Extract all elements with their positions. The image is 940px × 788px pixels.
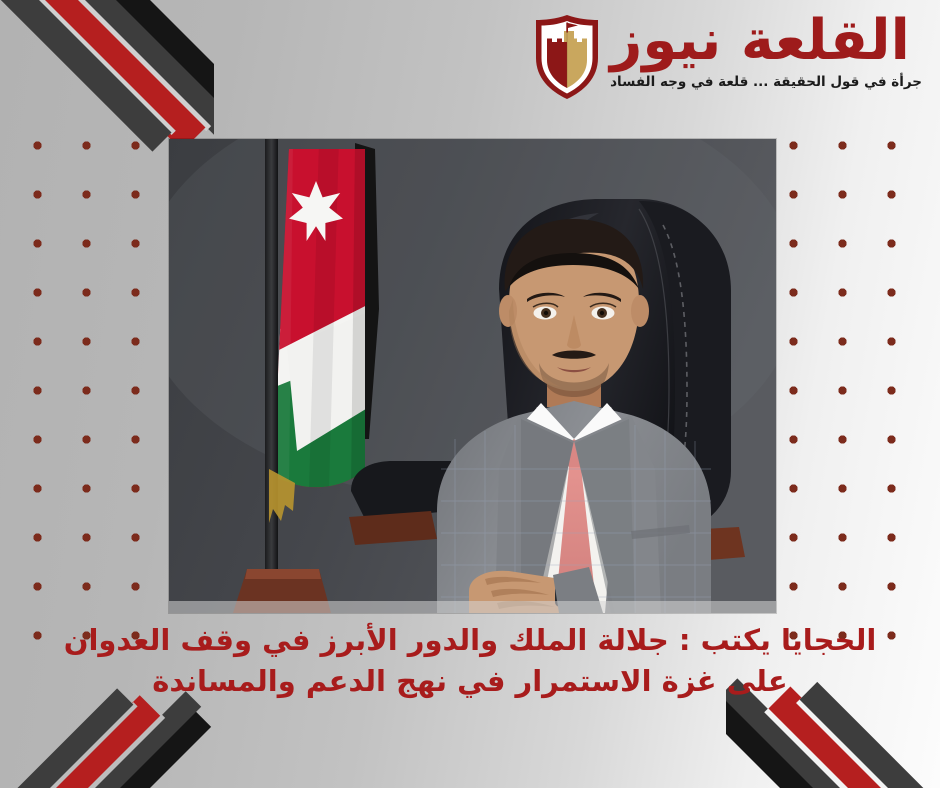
stripe-gap [0, 713, 165, 788]
stripe-black [0, 706, 211, 788]
stripe-gap [0, 702, 138, 788]
flag-pole [265, 139, 278, 613]
stripe-gray [0, 0, 172, 152]
article-photo [169, 139, 776, 613]
portrait-illustration [169, 139, 776, 613]
castle-shield-icon [534, 14, 600, 100]
news-card: القلعة نيوز جرأة في قول الحقيقة ... قلعة… [0, 0, 940, 788]
logo-text-block: القلعة نيوز جرأة في قول الحقيقة ... قلعة… [610, 6, 922, 91]
stripe-gap [0, 0, 176, 135]
stripe-red [0, 695, 160, 788]
stripe-gray [0, 688, 133, 788]
logo-tagline: جرأة في قول الحقيقة ... قلعة في وجه الفس… [610, 73, 922, 91]
logo-wordmark: القلعة نيوز [610, 10, 910, 72]
stripe-gap [796, 698, 940, 788]
dot-grid-right [789, 141, 909, 641]
site-logo[interactable]: القلعة نيوز جرأة في قول الحقيقة ... قلعة… [534, 6, 922, 100]
stripe-black [726, 692, 940, 788]
stripe-gray [0, 691, 201, 788]
stripe-red [0, 0, 205, 151]
stripe-gap [764, 707, 940, 788]
headline: الحجايا يكتب : جلالة الملك والدور الأبرز… [60, 620, 880, 702]
dot-grid-left [33, 141, 153, 641]
stripe-gap [0, 0, 211, 131]
